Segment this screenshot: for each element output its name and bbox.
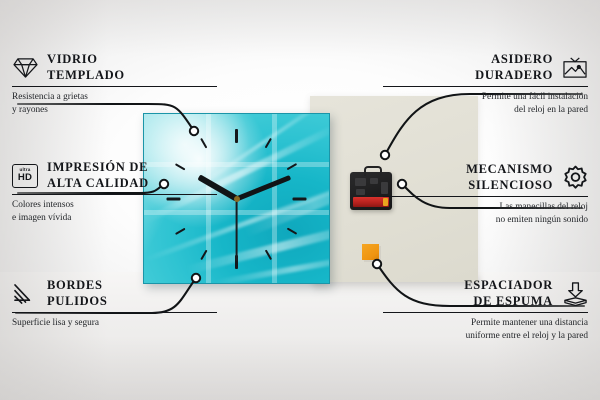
feature-description: Resistencia a grietas y rayones	[12, 91, 217, 116]
foam-spacer-icon	[562, 281, 588, 307]
feature-title: BORDES PULIDOS	[47, 278, 107, 309]
feature-description: Las manecillas del reloj no emiten ningú…	[383, 201, 588, 226]
feature-title: ESPACIADOR DE ESPUMA	[464, 278, 553, 309]
feature-description: Superficie lisa y segura	[12, 317, 217, 329]
feature-description: Colores intensos e imagen vívida	[12, 199, 217, 224]
infographic-canvas: VIDRIO TEMPLADO Resistencia a grietas y …	[0, 0, 600, 400]
title-underline	[383, 86, 588, 87]
feature-header: ASIDERO DURADERO	[383, 52, 588, 83]
feature-header: BORDES PULIDOS	[12, 278, 217, 309]
feature-title: VIDRIO TEMPLADO	[47, 52, 125, 83]
feature-impresion-alta-calidad: ultra HD IMPRESIÓN DE ALTA CALIDAD Color…	[12, 160, 217, 224]
feature-bordes-pulidos: BORDES PULIDOS Superficie lisa y segura	[12, 278, 217, 330]
feature-vidrio-templado: VIDRIO TEMPLADO Resistencia a grietas y …	[12, 52, 217, 116]
gear-icon	[562, 165, 588, 191]
feature-espaciador-de-espuma: ESPACIADOR DE ESPUMA Permite mantener un…	[383, 278, 588, 342]
feature-title: ASIDERO DURADERO	[475, 52, 553, 83]
feature-description: Permite mantener una distancia uniforme …	[383, 317, 588, 342]
feature-header: MECANISMO SILENCIOSO	[383, 162, 588, 193]
feature-title: IMPRESIÓN DE ALTA CALIDAD	[47, 160, 149, 191]
diamond-icon	[12, 55, 38, 81]
hd-label: HD	[18, 173, 32, 183]
title-underline	[383, 312, 588, 313]
wall-hanger-icon	[562, 55, 588, 81]
title-underline	[383, 196, 588, 197]
feature-description: Permite una fácil instalación del reloj …	[383, 91, 588, 116]
title-underline	[12, 194, 217, 195]
title-underline	[12, 312, 217, 313]
title-underline	[12, 86, 217, 87]
feature-asidero-duradero: ASIDERO DURADERO Permite una fácil insta…	[383, 52, 588, 116]
feature-mecanismo-silencioso: MECANISMO SILENCIOSO Las manecillas del …	[383, 162, 588, 226]
feature-title: MECANISMO SILENCIOSO	[466, 162, 553, 193]
feature-header: ESPACIADOR DE ESPUMA	[383, 278, 588, 309]
feature-header: ultra HD IMPRESIÓN DE ALTA CALIDAD	[12, 160, 217, 191]
polished-edges-icon	[12, 281, 38, 307]
feature-header: VIDRIO TEMPLADO	[12, 52, 217, 83]
ultra-hd-icon: ultra HD	[12, 163, 38, 189]
